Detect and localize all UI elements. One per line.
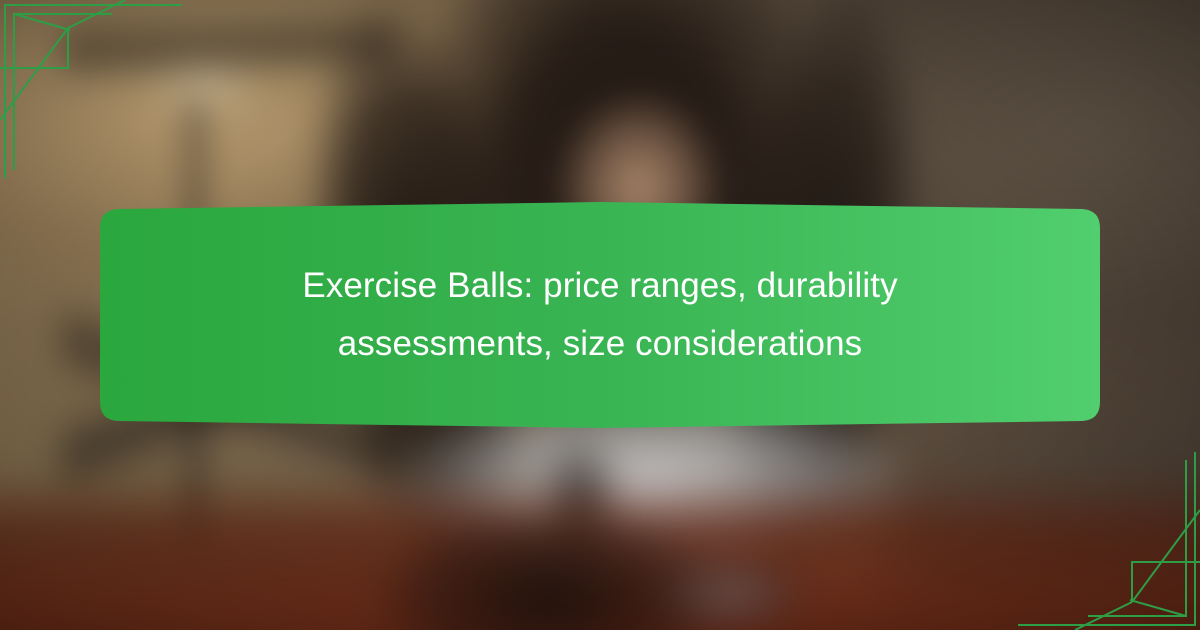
- banner-title-line-1: Exercise Balls: price ranges, durability: [302, 260, 897, 312]
- title-banner: Exercise Balls: price ranges, durability…: [100, 200, 1100, 430]
- banner-title-line-2: assessments, size considerations: [338, 318, 863, 370]
- share-card-canvas: Exercise Balls: price ranges, durability…: [0, 0, 1200, 630]
- banner-text-block: Exercise Balls: price ranges, durability…: [100, 200, 1100, 430]
